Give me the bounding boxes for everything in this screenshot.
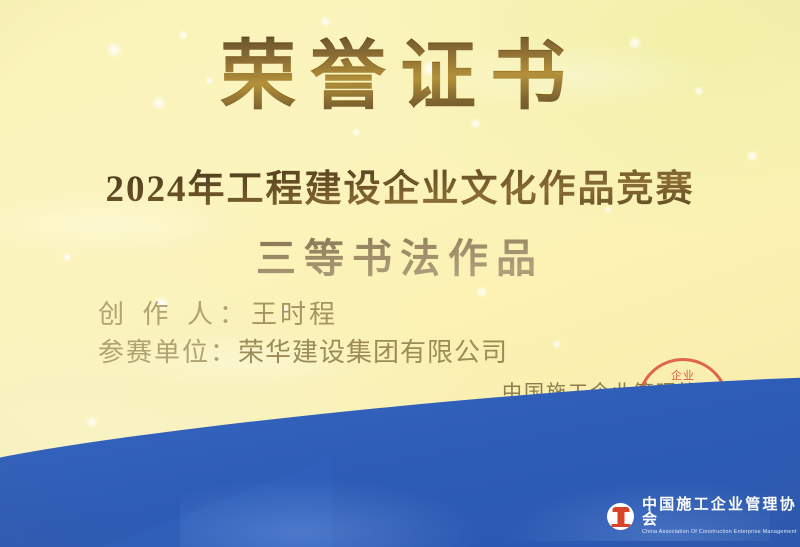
association-name-en: China Association Of Construction Enterp… — [642, 530, 800, 535]
author-value: 王时程 — [251, 300, 338, 329]
association-logo: 中国施工企业管理协会 China Association Of Construc… — [607, 497, 800, 535]
association-logo-text: 中国施工企业管理协会 China Association Of Construc… — [642, 497, 800, 535]
unit-label: 参赛单位： — [98, 338, 238, 367]
unit-field: 参赛单位：荣华建设集团有限公司 — [98, 332, 508, 369]
award-category: 三等书法作品 — [0, 226, 800, 284]
bokeh-dot — [86, 416, 98, 428]
bokeh-dot — [352, 128, 361, 137]
association-emblem-icon — [607, 503, 634, 530]
emblem-base-shape — [611, 524, 630, 527]
unit-value: 荣华建设集团有限公司 — [238, 338, 508, 367]
honor-certificate: 荣誉证书 2024年工程建设企业文化作品竞赛 三等书法作品 创 作 人：王时程 … — [0, 0, 800, 547]
competition-name: 2024年工程建设企业文化作品竞赛 — [0, 158, 800, 212]
author-label: 创 作 人： — [98, 300, 251, 329]
bokeh-dot — [552, 340, 561, 349]
certificate-title: 荣誉证书 — [0, 36, 800, 118]
bokeh-dot — [470, 118, 481, 129]
author-field: 创 作 人：王时程 — [98, 294, 338, 331]
association-name-cn: 中国施工企业管理协会 — [642, 497, 800, 527]
bokeh-dot — [476, 286, 488, 298]
bokeh-dot — [320, 16, 331, 27]
